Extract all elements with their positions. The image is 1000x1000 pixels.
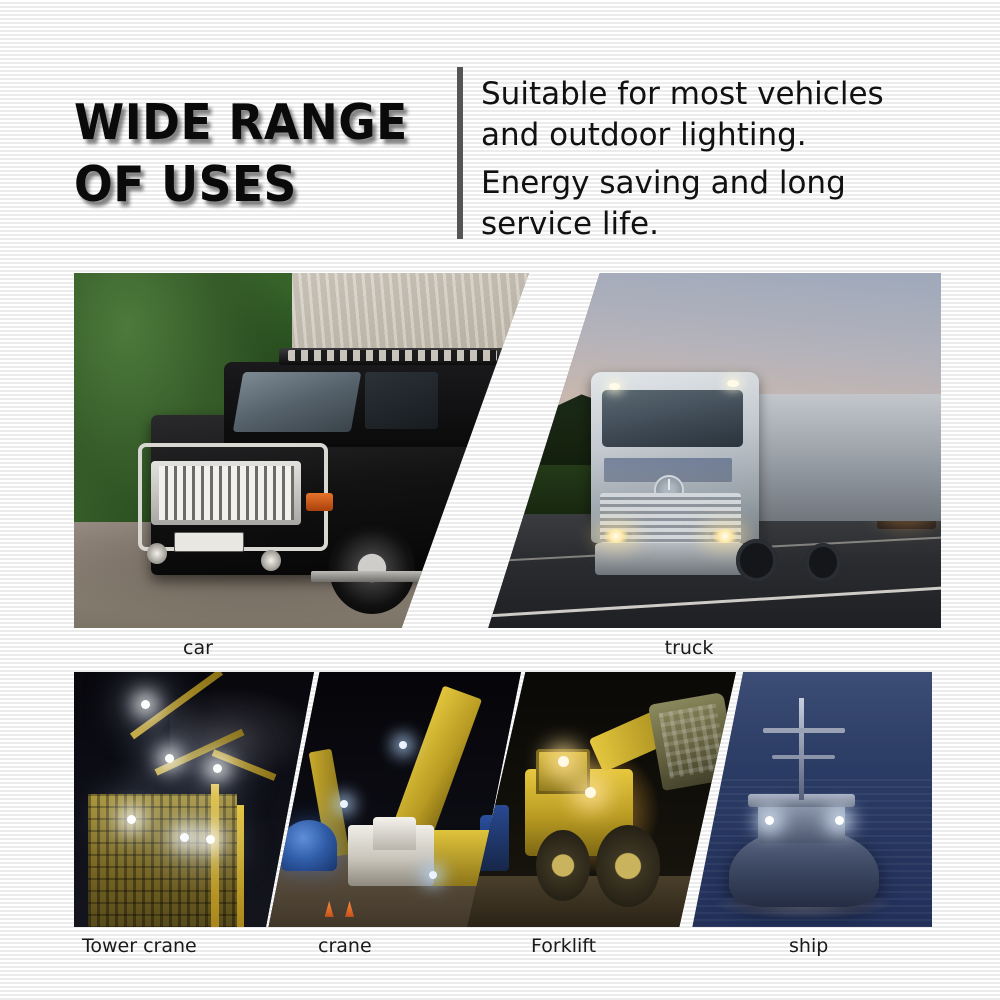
- crane-boom-light: [399, 741, 407, 749]
- truck-wheel-rear: [805, 543, 841, 582]
- truck-headlight-right: [709, 529, 741, 543]
- ship-mast: [799, 698, 804, 800]
- forklift-work-light-2: [585, 787, 596, 798]
- car-front-wheel: [329, 522, 415, 614]
- forklift-front-wheel: [596, 825, 661, 907]
- caption-crane: crane: [318, 935, 372, 957]
- tower-crane-mast-1: [211, 784, 219, 927]
- tower-crane-light-3: [213, 764, 222, 773]
- car-scene: [74, 273, 529, 628]
- truck-scene: [486, 273, 941, 628]
- header-subtext-block: Suitable for most vehicles and outdoor l…: [481, 74, 951, 252]
- header-section: WIDE RANGE OF USES Suitable for most veh…: [0, 0, 1000, 262]
- tower-crane-light-2: [165, 754, 174, 763]
- car-turn-signal: [306, 493, 333, 511]
- crane-truck-cab: [373, 817, 416, 850]
- car-side-step: [311, 571, 520, 582]
- truck-bumper: [595, 543, 745, 575]
- caption-forklift: Forklift: [531, 935, 596, 957]
- caption-ship: ship: [789, 935, 828, 957]
- top-photo-row: [74, 273, 941, 628]
- caption-tower-crane: Tower crane: [82, 935, 197, 957]
- forklift-work-light-1: [558, 756, 569, 767]
- car-side-window: [365, 372, 438, 429]
- caption-car: car: [183, 637, 213, 659]
- tower-crane-light-6: [127, 815, 136, 824]
- ship-deck-light-left: [765, 816, 774, 825]
- truck-windshield: [602, 390, 743, 447]
- page-title: WIDE RANGE OF USES: [74, 92, 418, 216]
- crane-work-light: [340, 800, 348, 808]
- car-license-plate: [174, 532, 244, 552]
- car-roof-light-bar: [279, 348, 507, 366]
- subtext-line-1: Suitable for most vehicles and outdoor l…: [481, 74, 951, 156]
- photo-car: [74, 273, 529, 628]
- caption-truck: truck: [665, 637, 714, 659]
- header-divider: [457, 67, 463, 239]
- bottom-photo-row: [74, 672, 932, 927]
- ship-yard-arm-lower: [772, 755, 835, 759]
- car-windshield: [232, 372, 361, 432]
- infographic-page: WIDE RANGE OF USES Suitable for most veh…: [0, 0, 1000, 1000]
- car-grille: [151, 461, 301, 525]
- tower-crane-mast-2: [237, 805, 244, 927]
- truck-wheel-front: [736, 539, 777, 582]
- subtext-line-2: Energy saving and long service life.: [481, 163, 951, 245]
- car-fog-lamp-right: [261, 550, 281, 571]
- tower-crane-light-4: [180, 833, 189, 842]
- ship-yard-arm-upper: [763, 728, 845, 733]
- truck-marker-light-right: [727, 380, 738, 387]
- crane-blue-cargo: [281, 820, 337, 871]
- photo-truck: [486, 273, 941, 628]
- truck-headlight-left: [600, 529, 632, 543]
